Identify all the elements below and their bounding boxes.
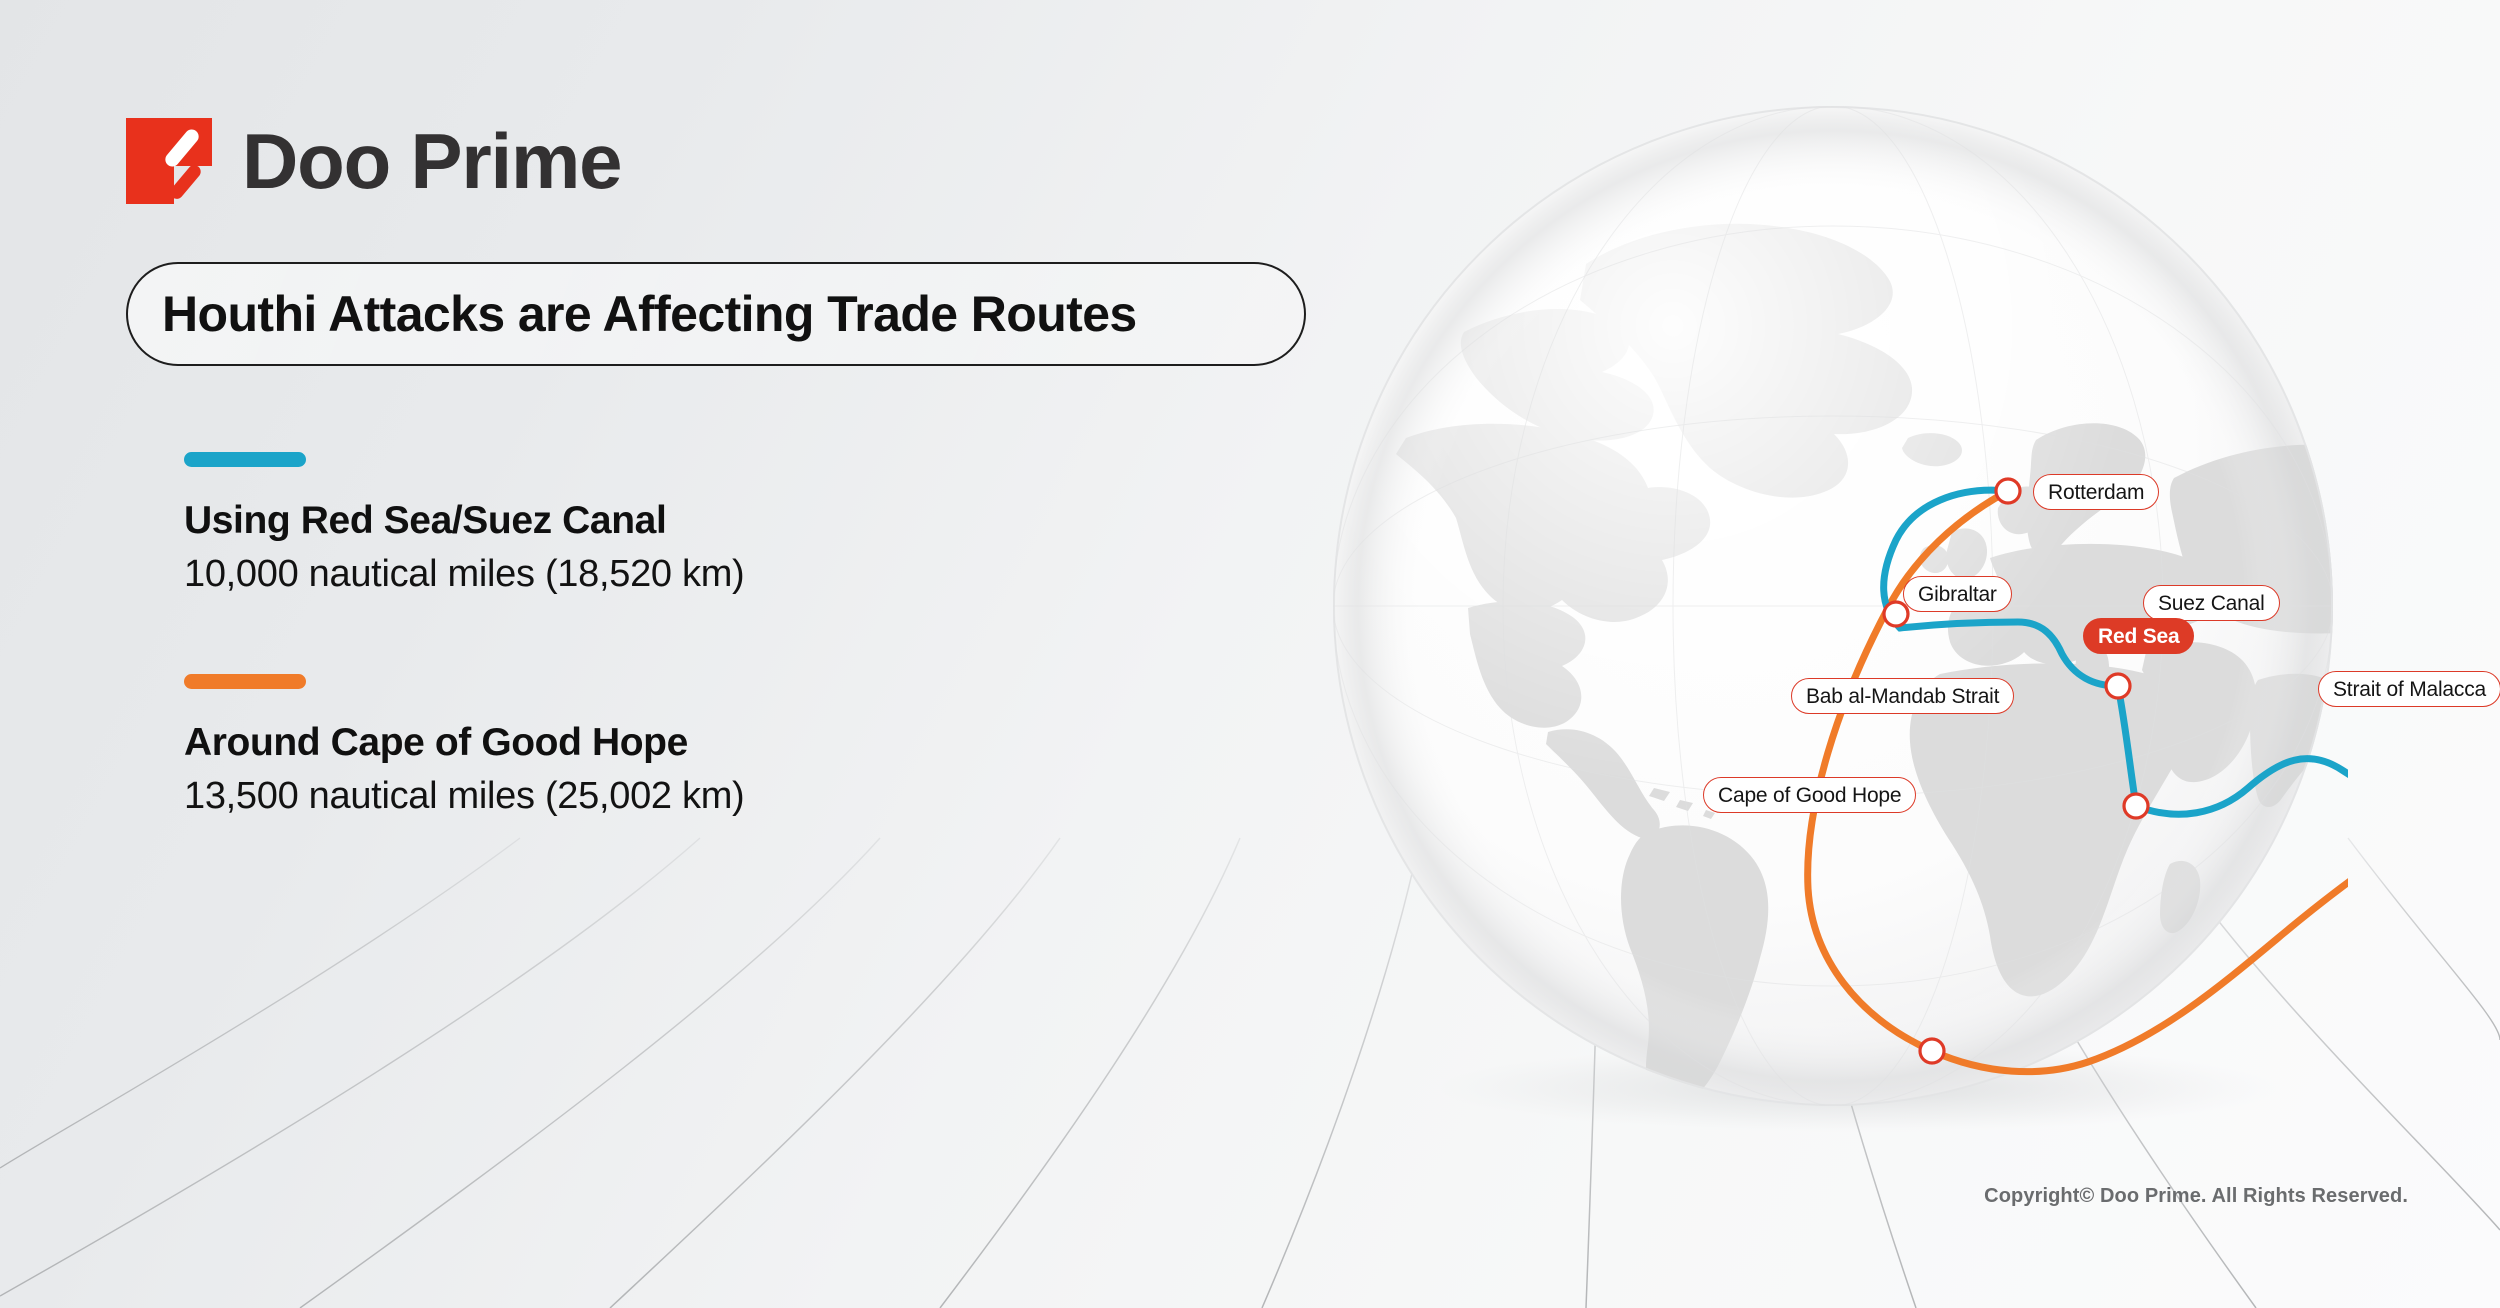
map-label-bab-al-mandab-strait[interactable]: Bab al-Mandab Strait bbox=[1791, 678, 2014, 714]
marker-suez-canal bbox=[2106, 674, 2130, 698]
brand-wordmark: Doo Prime bbox=[242, 122, 621, 200]
legend-swatch-orange bbox=[184, 674, 306, 689]
legend-item-title: Using Red Sea/Suez Canal bbox=[184, 499, 744, 543]
infographic-canvas: Doo Prime Houthi Attacks are Affecting T… bbox=[0, 0, 2500, 1308]
map-label-red-sea[interactable]: Red Sea bbox=[2083, 618, 2194, 654]
legend-item-distance: 13,500 nautical miles (25,002 km) bbox=[184, 775, 744, 818]
marker-gibraltar bbox=[1884, 602, 1908, 626]
marker-rotterdam bbox=[1996, 479, 2020, 503]
map-label-gibraltar[interactable]: Gibraltar bbox=[1903, 576, 2012, 612]
page-title-pill: Houthi Attacks are Affecting Trade Route… bbox=[126, 262, 1306, 366]
marker-bab-al-mandab bbox=[2124, 794, 2148, 818]
legend-item-distance: 10,000 nautical miles (18,520 km) bbox=[184, 553, 744, 596]
legend-item-red-sea: Using Red Sea/Suez Canal 10,000 nautical… bbox=[184, 452, 744, 596]
globe-map: Rotterdam Gibraltar Suez Canal Red Sea B… bbox=[1318, 88, 2348, 1133]
map-label-strait-of-malacca[interactable]: Strait of Malacca bbox=[2318, 671, 2500, 707]
page-title: Houthi Attacks are Affecting Trade Route… bbox=[162, 285, 1137, 343]
legend-item-title: Around Cape of Good Hope bbox=[184, 721, 744, 765]
legend-item-cape: Around Cape of Good Hope 13,500 nautical… bbox=[184, 674, 744, 818]
map-label-cape-of-good-hope[interactable]: Cape of Good Hope bbox=[1703, 777, 1916, 813]
doo-prime-logo-mark-icon bbox=[126, 118, 212, 204]
marker-cape-of-good-hope bbox=[1920, 1039, 1944, 1063]
copyright-notice: Copyright© Doo Prime. All Rights Reserve… bbox=[1984, 1185, 2408, 1208]
brand-logo: Doo Prime bbox=[126, 118, 621, 204]
legend-swatch-blue bbox=[184, 452, 306, 467]
map-label-rotterdam[interactable]: Rotterdam bbox=[2033, 474, 2159, 510]
map-label-suez-canal[interactable]: Suez Canal bbox=[2143, 585, 2280, 621]
route-legend: Using Red Sea/Suez Canal 10,000 nautical… bbox=[184, 452, 744, 818]
